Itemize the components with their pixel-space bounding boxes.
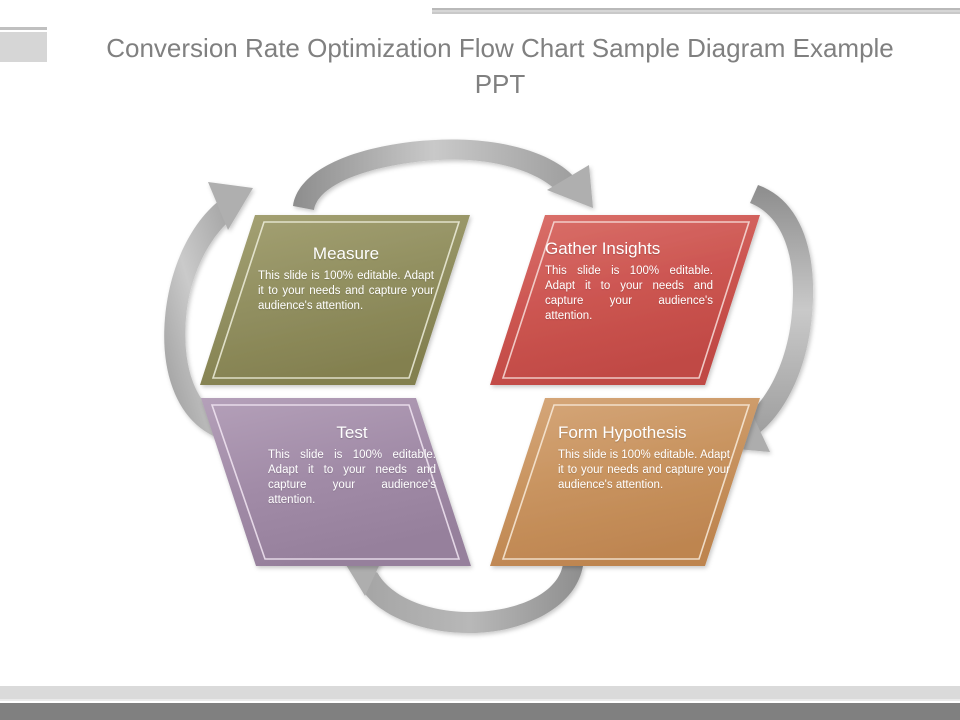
footer-bar — [0, 703, 960, 720]
node-gather-insights-text: Gather Insights This slide is 100% edita… — [545, 238, 713, 324]
node-measure-title: Measure — [258, 243, 434, 265]
node-measure-body: This slide is 100% editable. Adapt it to… — [258, 269, 434, 314]
node-gather-insights-body: This slide is 100% editable. Adapt it to… — [545, 264, 713, 324]
node-gather-insights-title: Gather Insights — [545, 238, 713, 260]
footer-accent-band — [0, 686, 960, 701]
header-corner-line — [0, 27, 47, 30]
node-test-title: Test — [268, 422, 436, 444]
node-form-hypothesis-title: Form Hypothesis — [558, 422, 730, 444]
arrow-measure-to-gather — [293, 140, 593, 210]
node-test-body: This slide is 100% editable. Adapt it to… — [268, 448, 436, 508]
node-test-text: Test This slide is 100% editable. Adapt … — [268, 422, 436, 508]
node-measure-text: Measure This slide is 100% editable. Ada… — [258, 243, 434, 314]
node-form-hypothesis-text: Form Hypothesis This slide is 100% edita… — [558, 422, 730, 493]
node-form-hypothesis-body: This slide is 100% editable. Adapt it to… — [558, 448, 730, 493]
cycle-diagram: Measure This slide is 100% editable. Ada… — [0, 130, 960, 650]
page-title: Conversion Rate Optimization Flow Chart … — [80, 30, 920, 102]
header-corner-block — [0, 32, 47, 62]
header-accent-bar — [432, 8, 960, 12]
